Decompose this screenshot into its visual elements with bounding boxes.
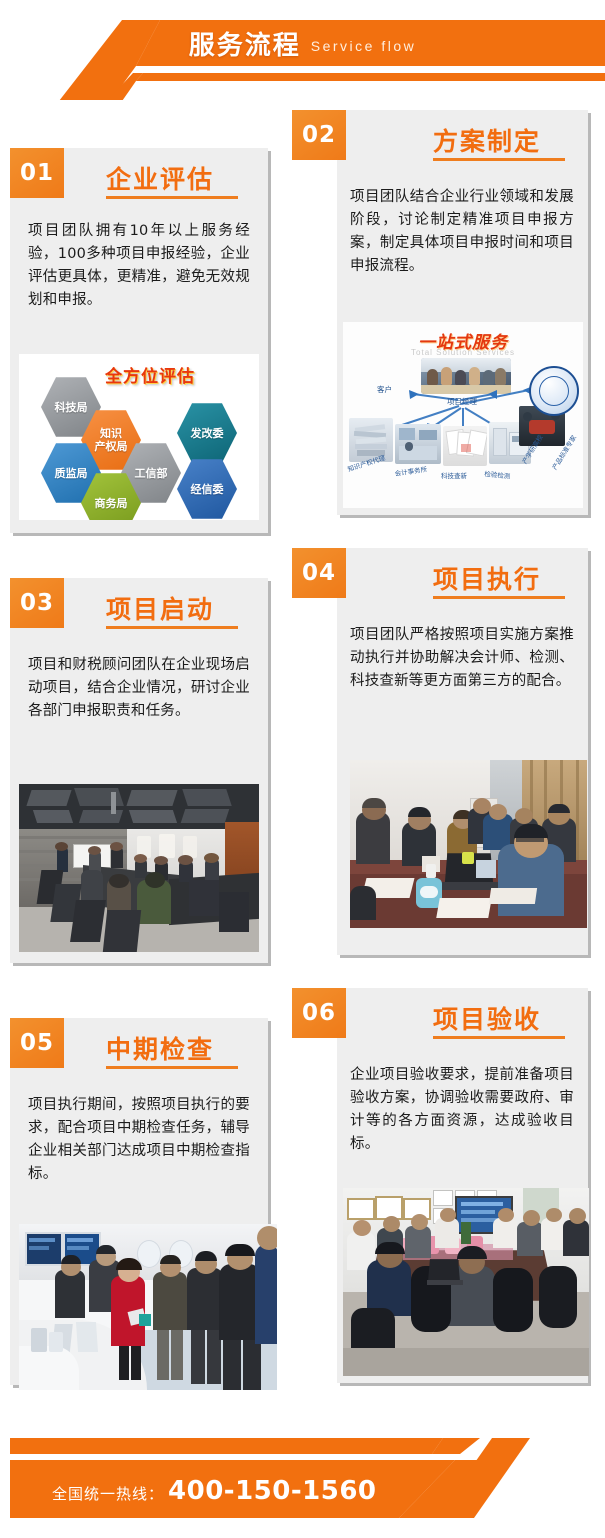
step-badge-06: 06 bbox=[292, 988, 346, 1038]
card-title-rule-03 bbox=[106, 626, 238, 629]
card-photo-04 bbox=[350, 760, 587, 928]
step-card-04: 04 项目执行 项目团队严格按照项目实施方案推动执行并协助解决会计师、检测、科技… bbox=[292, 548, 593, 960]
page-footer: 全国统一热线： 400-150-1560 bbox=[0, 1400, 605, 1538]
card-title-05: 中期检查 bbox=[106, 1030, 214, 1066]
hotline-phone: 400-150-1560 bbox=[168, 1476, 377, 1506]
hex-jingxin-wei: 经信委 bbox=[177, 458, 237, 520]
oss-node-3 bbox=[443, 426, 487, 466]
step-badge-02: 02 bbox=[292, 110, 346, 160]
oss-caption-3: 科技查新 bbox=[441, 470, 467, 480]
card-photo-06 bbox=[343, 1188, 589, 1376]
one-stop-service-diagram-02: 一站式服务 Total Solution Services bbox=[343, 322, 583, 508]
step-badge-03: 03 bbox=[10, 578, 64, 628]
card-title-01: 企业评估 bbox=[106, 160, 214, 196]
step-card-03: 03 项目启动 项目和财税顾问团队在企业现场启动项目，结合企业情况，研讨企业各部… bbox=[10, 578, 278, 968]
step-badge-01: 01 bbox=[10, 148, 64, 198]
card-photo-05 bbox=[19, 1224, 277, 1390]
service-flow-page: 服务流程 Service flow 01 企业评估 项目团队拥有10年以上服务经… bbox=[0, 0, 605, 1538]
card-text-03: 项目和财税顾问团队在企业现场启动项目，结合企业情况，研讨企业各部门申报职责和任务… bbox=[28, 654, 250, 723]
card-text-04: 项目团队严格按照项目实施方案推动执行并协助解决会计师、检测、科技查新等更方面第三… bbox=[350, 624, 574, 693]
card-title-rule-05 bbox=[106, 1066, 238, 1069]
hotline-group: 全国统一热线： 400-150-1560 bbox=[52, 1476, 377, 1506]
page-header: 服务流程 Service flow bbox=[0, 0, 605, 100]
card-title-rule-04 bbox=[433, 596, 565, 599]
card-text-01: 项目团队拥有10年以上服务经验，100多种项目申报经验，企业评估更具体，更精准，… bbox=[28, 220, 250, 312]
hotline-label: 全国统一热线： bbox=[52, 1483, 164, 1504]
footer-banner-shape bbox=[0, 1400, 605, 1538]
card-title-03: 项目启动 bbox=[106, 590, 214, 626]
card-text-02: 项目团队结合企业行业领域和发展阶段，讨论制定精准项目申报方案，制定具体项目申报时… bbox=[350, 186, 574, 278]
oss-certification-seal-icon bbox=[529, 366, 579, 416]
card-title-02: 方案制定 bbox=[433, 122, 541, 158]
step-card-05: 05 中期检查 项目执行期间，按照项目执行的要求，配合项目中期检查任务，辅导企业… bbox=[10, 1018, 278, 1390]
card-title-rule-01 bbox=[106, 196, 238, 199]
header-banner-shape bbox=[0, 0, 605, 100]
oss-node-2 bbox=[395, 424, 441, 464]
card-title-06: 项目验收 bbox=[433, 1000, 541, 1036]
oss-label-project-manager: 项目经理 bbox=[447, 396, 477, 407]
card-title-rule-02 bbox=[433, 158, 565, 161]
hex-fagai-wei: 发改委 bbox=[177, 402, 237, 464]
card-title-04: 项目执行 bbox=[433, 560, 541, 596]
hexagon-diagram-01: 全方位评估 科技局 知识产权局 质监局 工信部 商务局 发改委 经信委 bbox=[19, 354, 259, 520]
step-card-01: 01 企业评估 项目团队拥有10年以上服务经验，100多种项目申报经验，企业评估… bbox=[10, 148, 278, 538]
step-badge-04: 04 bbox=[292, 548, 346, 598]
step-card-02: 02 方案制定 项目团队结合企业行业领域和发展阶段，讨论制定精准项目申报方案，制… bbox=[292, 110, 593, 520]
step-badge-05: 05 bbox=[10, 1018, 64, 1068]
hexagon-diagram-caption: 全方位评估 bbox=[105, 362, 195, 387]
oss-label-customer: 客户 bbox=[377, 384, 392, 395]
card-photo-03 bbox=[19, 784, 259, 952]
card-title-rule-06 bbox=[433, 1036, 565, 1039]
card-text-06: 企业项目验收要求，提前准备项目验收方案，协调验收需要政府、审计等的各方面资源，达… bbox=[350, 1064, 574, 1156]
step-card-06: 06 项目验收 企业项目验收要求，提前准备项目验收方案，协调验收需要政府、审计等… bbox=[292, 988, 593, 1388]
card-text-05: 项目执行期间，按照项目执行的要求，配合项目中期检查任务，辅导企业相关部门达成项目… bbox=[28, 1094, 250, 1186]
